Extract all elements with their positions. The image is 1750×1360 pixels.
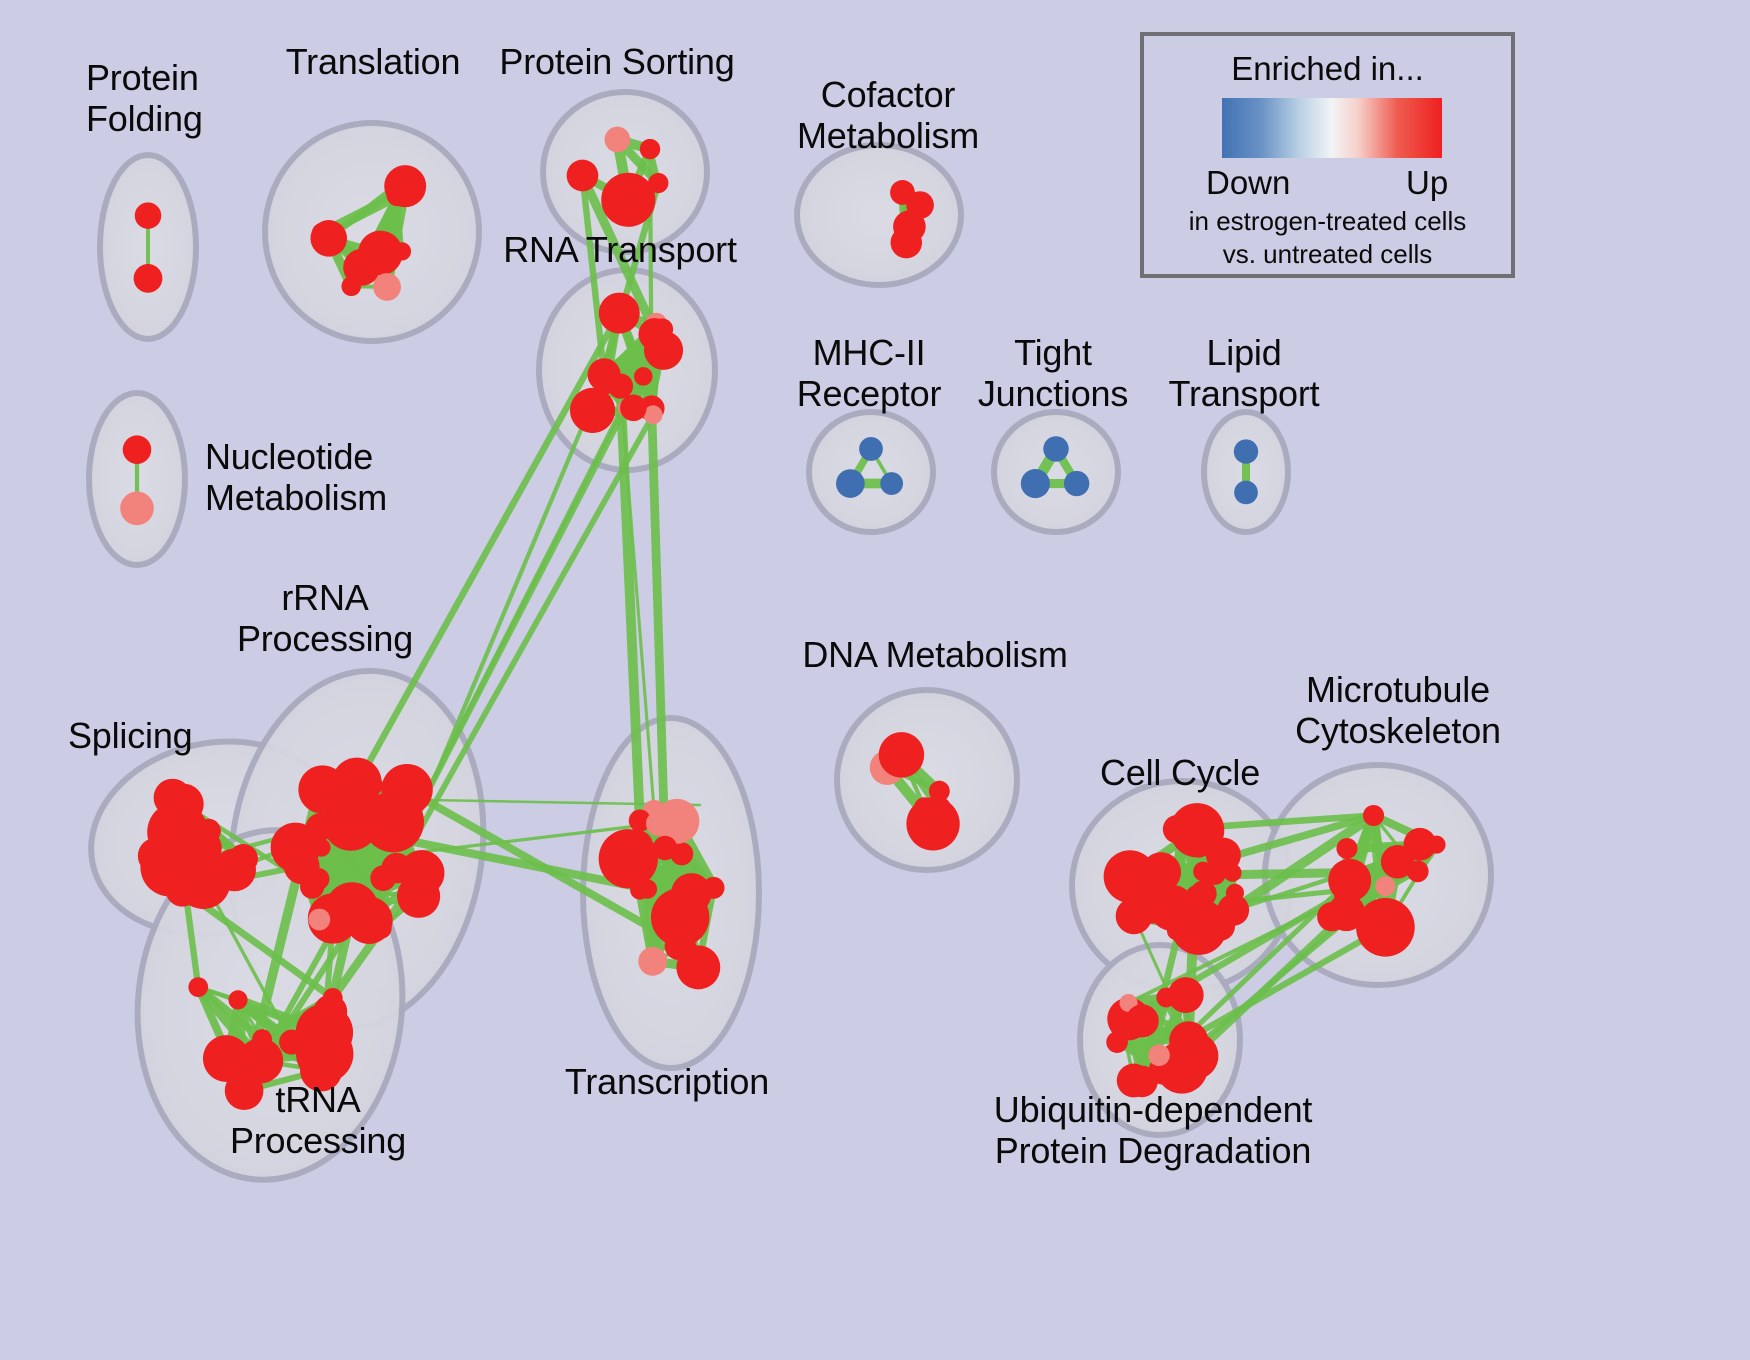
network-node	[620, 395, 647, 422]
legend-panel: Enriched in... Down Up in estrogen-treat…	[1140, 32, 1515, 278]
network-node	[135, 202, 162, 229]
network-node	[906, 191, 934, 219]
network-node	[1190, 880, 1216, 906]
cluster-label-rna-transport: RNA Transport	[503, 230, 737, 271]
network-node	[1427, 836, 1445, 854]
network-node	[343, 249, 380, 286]
legend-title: Enriched in...	[1144, 50, 1511, 88]
network-node	[1104, 850, 1157, 903]
legend-high-label: Up	[1406, 164, 1448, 202]
cluster-hull-mhc-ii-receptor	[809, 412, 933, 532]
network-node	[646, 811, 671, 836]
network-node	[676, 945, 720, 989]
network-node	[393, 242, 411, 260]
cluster-label-nucleotide-metabolism: Nucleotide Metabolism	[205, 437, 387, 518]
network-node	[891, 227, 923, 259]
network-node	[638, 947, 667, 976]
network-node	[313, 839, 331, 857]
network-node	[1375, 876, 1395, 896]
network-node	[154, 779, 192, 817]
network-node	[1176, 892, 1195, 911]
network-node	[296, 1025, 353, 1082]
network-node	[570, 388, 615, 433]
legend-caption-line2: vs. untreated cells	[1144, 239, 1511, 270]
network-node	[176, 854, 231, 909]
network-node	[648, 173, 668, 193]
network-node	[567, 160, 599, 192]
network-node	[134, 264, 163, 293]
network-node	[1116, 898, 1152, 934]
network-node	[599, 293, 640, 334]
cluster-label-cell-cycle: Cell Cycle	[1100, 753, 1260, 794]
network-node	[1148, 1044, 1170, 1066]
network-node	[1043, 436, 1068, 461]
network-node	[1217, 894, 1249, 926]
network-node	[605, 127, 631, 153]
cluster-label-lipid-transport: Lipid Transport	[1169, 333, 1320, 414]
cluster-label-microtubule-cytoskeleton: Microtubule Cytoskeleton	[1295, 670, 1501, 751]
enrichment-network-figure: Protein FoldingTranslationNucleotide Met…	[0, 0, 1750, 1360]
network-node	[651, 888, 709, 946]
legend-low-label: Down	[1206, 164, 1290, 202]
network-node	[381, 764, 432, 815]
network-node	[394, 171, 412, 189]
legend-caption-line1: in estrogen-treated cells	[1144, 206, 1511, 237]
cluster-label-protein-sorting: Protein Sorting	[499, 42, 734, 83]
cluster-label-ubiquitin-protein-degradation: Ubiquitin-dependent Protein Degradation	[994, 1090, 1312, 1171]
network-node	[310, 220, 347, 257]
network-node	[306, 773, 332, 799]
network-node	[228, 990, 247, 1009]
network-node	[1168, 977, 1204, 1013]
cluster-hull-translation	[265, 123, 479, 341]
cluster-label-dna-metabolism: DNA Metabolism	[802, 635, 1067, 676]
network-node	[640, 139, 660, 159]
network-node	[1021, 469, 1050, 498]
cluster-label-cofactor-metabolism: Cofactor Metabolism	[797, 75, 979, 156]
network-node	[308, 909, 330, 931]
network-node	[836, 469, 865, 498]
network-node	[350, 810, 368, 828]
network-node	[879, 732, 924, 777]
network-node	[1356, 898, 1415, 957]
network-node	[314, 995, 348, 1029]
network-node	[601, 173, 655, 227]
network-node	[361, 774, 382, 795]
network-node	[120, 492, 154, 526]
network-node	[1381, 845, 1415, 879]
cluster-label-transcription: Transcription	[565, 1062, 769, 1103]
cluster-hull-tight-junctions	[994, 412, 1118, 532]
cluster-label-rrna-processing: rRNA Processing	[237, 578, 413, 659]
network-node	[1363, 805, 1384, 826]
network-node	[229, 844, 258, 873]
network-node	[630, 881, 649, 900]
network-node	[880, 472, 903, 495]
network-node	[1234, 439, 1258, 463]
network-node	[914, 797, 935, 818]
network-node	[188, 977, 208, 997]
cluster-label-protein-folding: Protein Folding	[86, 58, 203, 139]
cluster-label-tight-junctions: Tight Junctions	[978, 333, 1128, 414]
network-node	[284, 848, 320, 884]
network-node	[197, 819, 221, 843]
network-node	[238, 1038, 283, 1083]
network-node	[859, 437, 883, 461]
network-node	[306, 813, 334, 841]
network-node	[371, 918, 391, 938]
network-node	[1234, 481, 1258, 505]
network-node	[1336, 838, 1357, 859]
network-node	[651, 318, 673, 340]
network-node	[1064, 471, 1089, 496]
network-node	[373, 273, 401, 301]
network-node	[1206, 838, 1241, 873]
network-node	[703, 877, 725, 899]
network-node	[381, 853, 412, 884]
network-node	[1167, 922, 1185, 940]
network-node	[929, 781, 950, 802]
network-node	[1317, 902, 1346, 931]
cluster-hull-cofactor-metabolism	[797, 145, 961, 285]
network-node	[1106, 1031, 1128, 1053]
cluster-label-splicing: Splicing	[68, 716, 192, 757]
legend-color-gradient	[1222, 98, 1442, 158]
cluster-label-mhc-ii-receptor: MHC-II Receptor	[797, 333, 941, 414]
cluster-label-translation: Translation	[286, 42, 461, 83]
network-node	[123, 435, 152, 464]
network-node	[588, 358, 621, 391]
network-node	[599, 829, 658, 888]
network-node	[634, 367, 653, 386]
cluster-label-trna-processing: tRNA Processing	[230, 1080, 406, 1161]
network-node	[1169, 1021, 1208, 1060]
